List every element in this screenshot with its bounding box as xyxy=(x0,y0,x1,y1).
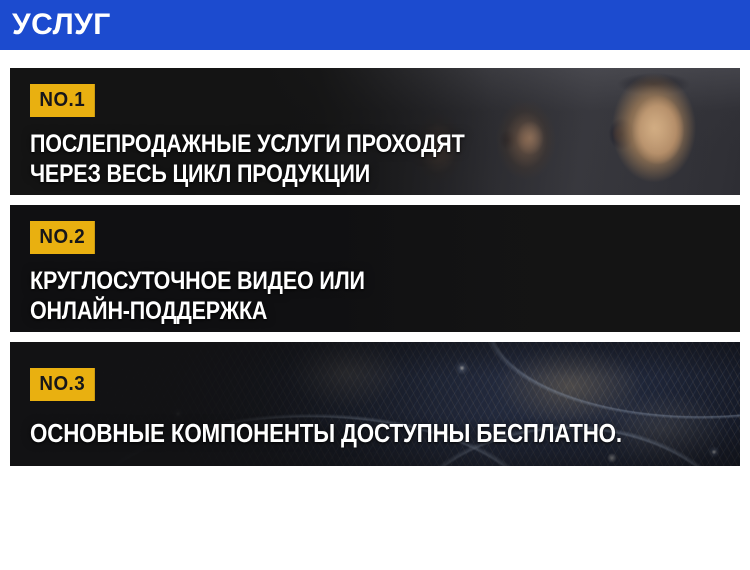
rank-badge-1: NO.1 xyxy=(30,84,95,117)
service-card-1: NO.1 ПОСЛЕПРОДАЖНЫЕ УСЛУГИ ПРОХОДЯТ ЧЕРЕ… xyxy=(10,68,740,195)
card-headline-2: КРУГЛОСУТОЧНОЕ ВИДЕО ИЛИ ОНЛАЙН-ПОДДЕРЖК… xyxy=(30,267,641,326)
card-content: NO.1 ПОСЛЕПРОДАЖНЫЕ УСЛУГИ ПРОХОДЯТ ЧЕРЕ… xyxy=(10,68,740,195)
rank-badge-3: NO.3 xyxy=(30,368,95,401)
card-headline-3: ОСНОВНЫЕ КОМПОНЕНТЫ ДОСТУПНЫ БЕСПЛАТНО. xyxy=(30,418,641,449)
service-card-2: NO.2 КРУГЛОСУТОЧНОЕ ВИДЕО ИЛИ ОНЛАЙН-ПОД… xyxy=(10,205,740,332)
card-content: NO.2 КРУГЛОСУТОЧНОЕ ВИДЕО ИЛИ ОНЛАЙН-ПОД… xyxy=(10,205,740,332)
rank-badge-2: NO.2 xyxy=(30,221,95,254)
card-headline-1: ПОСЛЕПРОДАЖНЫЕ УСЛУГИ ПРОХОДЯТ ЧЕРЕЗ ВЕС… xyxy=(30,130,641,189)
page-title: УСЛУГ xyxy=(12,10,111,40)
service-card-list: NO.1 ПОСЛЕПРОДАЖНЫЕ УСЛУГИ ПРОХОДЯТ ЧЕРЕ… xyxy=(0,50,750,466)
card-content: NO.3 ОСНОВНЫЕ КОМПОНЕНТЫ ДОСТУПНЫ БЕСПЛА… xyxy=(10,342,740,466)
page-header: УСЛУГ xyxy=(0,0,750,50)
service-card-3: NO.3 ОСНОВНЫЕ КОМПОНЕНТЫ ДОСТУПНЫ БЕСПЛА… xyxy=(10,342,740,466)
